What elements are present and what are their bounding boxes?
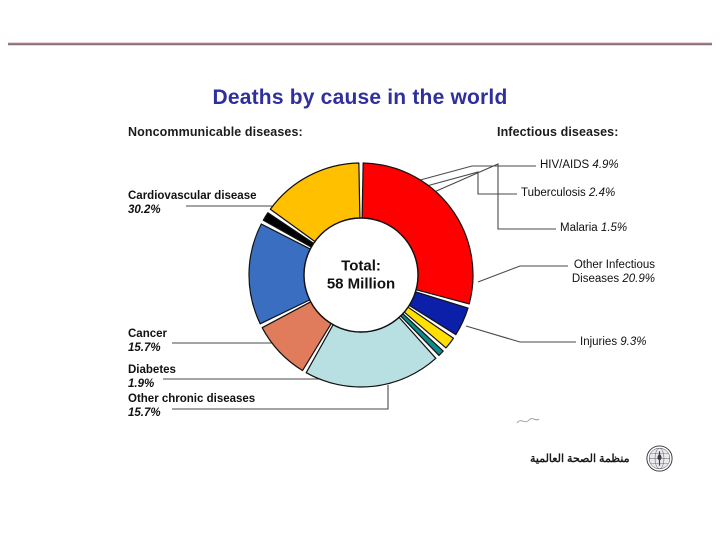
- donut-svg: [246, 160, 476, 390]
- footer-organization-arabic: منظمة الصحة العالمية: [530, 452, 630, 465]
- label-cancer: Cancer 15.7%: [128, 327, 167, 355]
- label-other-chronic: Other chronic diseases 15.7%: [128, 392, 255, 420]
- label-cancer-name: Cancer: [128, 327, 167, 341]
- section-header-infectious: Infectious diseases:: [497, 125, 619, 139]
- footer-scribble-mark: [516, 415, 540, 427]
- label-cardiovascular-pct: 30.2%: [128, 203, 257, 217]
- label-cardiovascular: Cardiovascular disease 30.2%: [128, 189, 257, 217]
- label-injuries-pct: 9.3%: [620, 336, 646, 348]
- label-hiv-aids: HIV/AIDS 4.9%: [540, 158, 619, 172]
- label-hiv-aids-name: HIV/AIDS: [540, 159, 589, 171]
- donut-hole: [304, 218, 418, 332]
- header-divider-rule: [8, 42, 712, 46]
- section-header-noncommunicable: Noncommunicable diseases:: [128, 125, 303, 139]
- label-tuberculosis: Tuberculosis 2.4%: [521, 186, 615, 200]
- deaths-by-cause-donut-chart: Total: 58 Million: [246, 160, 476, 390]
- label-diabetes: Diabetes 1.9%: [128, 363, 176, 391]
- slide-canvas: Deaths by cause in the world Noncommunic…: [0, 0, 720, 540]
- label-cardiovascular-name: Cardiovascular disease: [128, 189, 257, 203]
- label-injuries: Injuries 9.3%: [580, 335, 647, 349]
- label-cancer-pct: 15.7%: [128, 341, 167, 355]
- label-tuberculosis-name: Tuberculosis: [521, 187, 586, 199]
- label-other-chronic-pct: 15.7%: [128, 406, 255, 420]
- label-injuries-name: Injuries: [580, 336, 617, 348]
- label-hiv-aids-pct: 4.9%: [592, 159, 618, 171]
- label-malaria-name: Malaria: [560, 222, 598, 234]
- label-other-infectious: Other Infectious Diseases 20.9%: [530, 258, 655, 286]
- who-emblem-icon: [646, 445, 673, 472]
- label-malaria: Malaria 1.5%: [560, 221, 627, 235]
- label-diabetes-name: Diabetes: [128, 363, 176, 377]
- label-diabetes-pct: 1.9%: [128, 377, 176, 391]
- label-other-chronic-name: Other chronic diseases: [128, 392, 255, 406]
- label-other-infectious-pct: 20.9%: [622, 273, 655, 285]
- page-title: Deaths by cause in the world: [0, 86, 720, 110]
- label-malaria-pct: 1.5%: [601, 222, 627, 234]
- label-tuberculosis-pct: 2.4%: [589, 187, 615, 199]
